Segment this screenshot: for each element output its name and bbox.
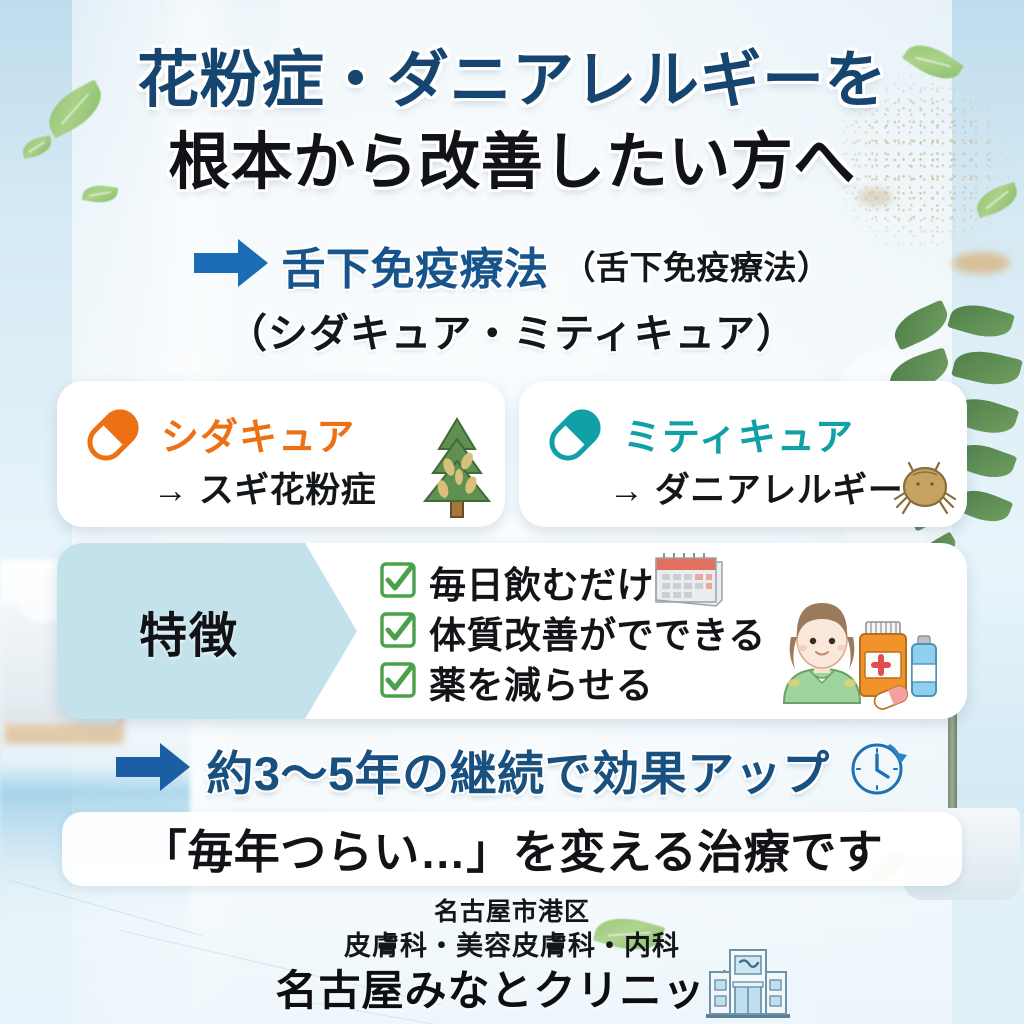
headline-line-2: 根本から改善したい方へ: [0, 122, 1024, 204]
calendar-icon: [648, 550, 726, 612]
feature-item-text: 薬を減らせる: [429, 655, 653, 709]
message-text: 「毎年つらい…」を変える治療です: [141, 816, 884, 882]
right-arrow-icon: [194, 239, 268, 292]
features-chevron: 特徴: [57, 543, 357, 719]
capsule-icon: [533, 393, 617, 482]
poster-canvas: 花粉症・ダニアレルギーを 根本から改善したい方へ 舌下免疫療法 （舌下免疫療法）…: [0, 0, 1024, 1024]
headline: 花粉症・ダニアレルギーを 根本から改善したい方へ: [0, 40, 1024, 204]
message-banner: 「毎年つらい…」を変える治療です: [62, 812, 962, 886]
product-card-miticure[interactable]: ミティキュア → ダニアレルギー: [519, 381, 967, 527]
product-brand-label: シダキュア: [161, 416, 355, 460]
duration-banner: 約3〜5年の継続で効果アップ: [0, 735, 1024, 804]
subtitle-main: 舌下免疫療法: [282, 233, 549, 297]
checkbox-checked-icon: [379, 611, 417, 654]
features-label: 特徴: [139, 596, 239, 666]
clinic-name: 名古屋みなとクリニック: [0, 964, 1024, 1018]
clinic-departments: 皮膚科・美容皮膚科・内科: [0, 928, 1024, 964]
product-cards: シダキュア → スギ花粉症: [57, 381, 967, 527]
clinic-area: 名古屋市港区: [0, 896, 1024, 928]
feature-item-text: 毎日飲むだけ: [429, 555, 654, 609]
subtitle-products: （シダキュア・ミティキュア）: [0, 301, 1024, 359]
feature-item: 体質改善がでできる: [379, 607, 766, 657]
product-brand-label: ミティキュア: [623, 416, 854, 460]
capsule-icon: [71, 393, 155, 482]
duration-text: 約3〜5年の継続で効果アップ: [206, 735, 829, 804]
feature-item: 薬を減らせる: [379, 657, 766, 707]
cedar-tree-icon: [415, 415, 499, 519]
hospital-building-icon: [702, 942, 794, 1018]
right-arrow-icon: [116, 743, 190, 796]
product-card-cedarcure[interactable]: シダキュア → スギ花粉症: [57, 381, 505, 527]
subtitle-paren: （舌下免疫療法）: [563, 241, 831, 289]
product-target-label: → スギ花粉症: [153, 462, 417, 513]
checkbox-checked-icon: [379, 661, 417, 704]
dust-mite-icon: [887, 455, 963, 521]
checkbox-checked-icon: [379, 561, 417, 604]
subtitle-block: 舌下免疫療法 （舌下免疫療法） （シダキュア・ミティキュア）: [0, 233, 1024, 359]
feature-item-text: 体質改善がでできる: [429, 605, 766, 659]
headline-line-1: 花粉症・ダニアレルギーを: [0, 40, 1024, 122]
clinic-footer: 名古屋市港区 皮膚科・美容皮膚科・内科 名古屋みなとクリニック: [0, 896, 1024, 1018]
clock-arrow-icon: [846, 736, 908, 803]
product-target-label: → ダニアレルギー: [609, 462, 895, 513]
medicine-bottles-icon: [846, 616, 966, 708]
